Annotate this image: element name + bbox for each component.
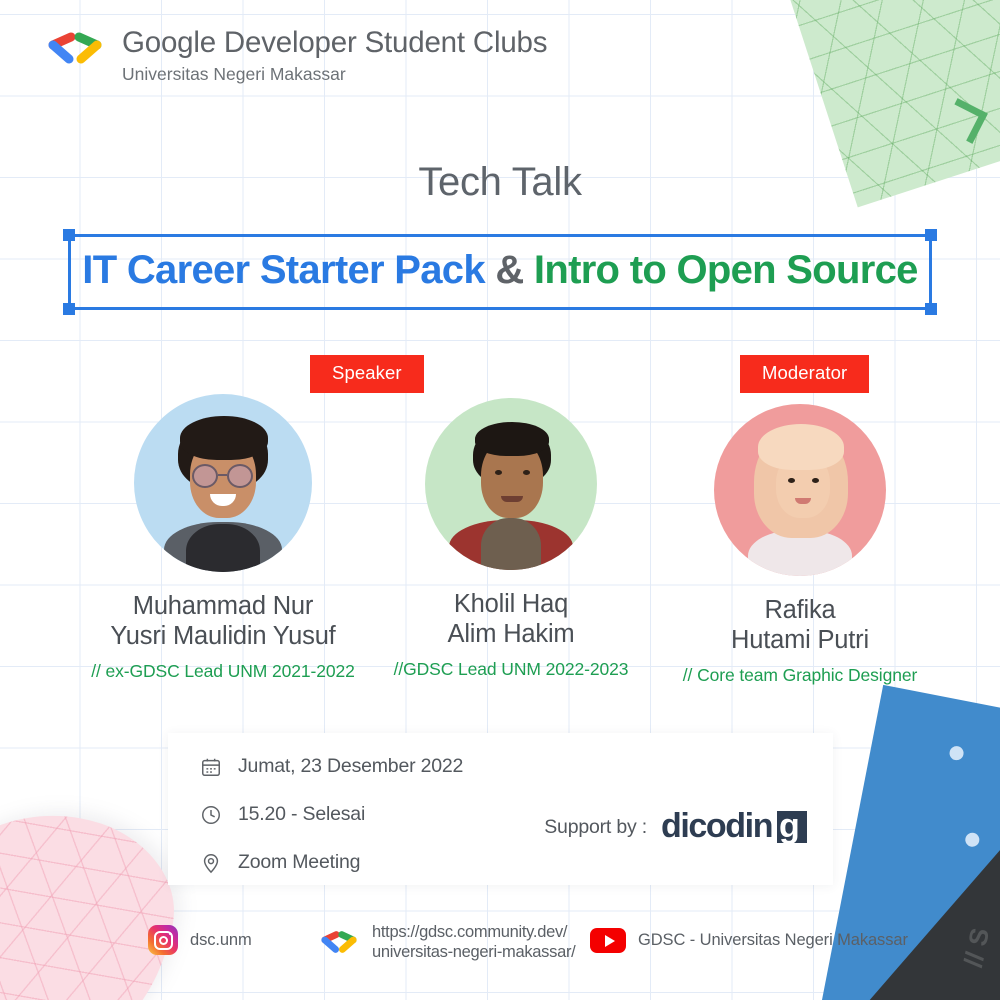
footer-instagram[interactable]: dsc.unm bbox=[148, 925, 252, 955]
svg-text:dicodin: dicodin bbox=[661, 807, 772, 845]
headline: IT Career Starter Pack & Intro to Open S… bbox=[0, 248, 1000, 293]
event-info-card: Jumat, 23 Desember 2022 15.20 - Selesai … bbox=[168, 733, 833, 885]
selection-handle-top-left[interactable] bbox=[63, 229, 75, 241]
footer-website[interactable]: https://gdsc.community.dev/ universitas-… bbox=[318, 922, 575, 963]
headline-part-2: Intro to Open Source bbox=[534, 248, 918, 292]
website-url-line-1: https://gdsc.community.dev/ bbox=[372, 922, 575, 942]
person-card-moderator: Rafika Hutami Putri // Core team Graphic… bbox=[620, 404, 980, 686]
youtube-icon bbox=[590, 928, 626, 953]
person-role: // Core team Graphic Designer bbox=[620, 665, 980, 686]
event-kicker: Tech Talk bbox=[0, 160, 1000, 205]
avatar bbox=[134, 394, 312, 572]
support-label: Support by : bbox=[544, 816, 647, 839]
avatar-illustration bbox=[134, 394, 312, 572]
calendar-icon bbox=[200, 756, 222, 778]
person-name: Rafika Hutami Putri bbox=[620, 596, 980, 656]
selection-handle-top-right[interactable] bbox=[925, 229, 937, 241]
footer-youtube[interactable]: GDSC - Universitas Negeri Makassar bbox=[590, 928, 908, 953]
selection-handle-bottom-left[interactable] bbox=[63, 303, 75, 315]
avatar bbox=[425, 398, 597, 570]
info-time-text: 15.20 - Selesai bbox=[238, 803, 365, 826]
location-pin-icon bbox=[200, 852, 222, 874]
selection-handle-bottom-right[interactable] bbox=[925, 303, 937, 315]
brand-subtitle: Universitas Negeri Makassar bbox=[122, 64, 547, 85]
website-url: https://gdsc.community.dev/ universitas-… bbox=[372, 922, 575, 963]
decor-triangle-pattern-pink bbox=[0, 794, 188, 1000]
person-name-line-1: Rafika bbox=[620, 596, 980, 626]
brand-header: Google Developer Student Clubs Universit… bbox=[44, 26, 547, 85]
website-url-line-2: universitas-negeri-makassar/ bbox=[372, 942, 575, 962]
info-location-text: Zoom Meeting bbox=[238, 851, 360, 874]
headline-separator: & bbox=[495, 248, 523, 292]
decor-ghost-text: // S bbox=[958, 925, 996, 970]
decor-pink-blob-bottom-left bbox=[0, 794, 188, 1000]
badge-speaker: Speaker bbox=[310, 355, 424, 393]
youtube-channel: GDSC - Universitas Negeri Makassar bbox=[638, 931, 908, 950]
avatar-illustration bbox=[714, 404, 886, 576]
dicoding-wordmark-icon: dicodin g bbox=[661, 807, 809, 847]
avatar bbox=[714, 404, 886, 576]
headline-part-1: IT Career Starter Pack bbox=[82, 248, 485, 292]
gdsc-code-logo-icon bbox=[44, 30, 106, 68]
gdsc-code-logo-icon bbox=[318, 928, 360, 956]
info-row-time: 15.20 - Selesai bbox=[200, 803, 365, 826]
decor-green-chevron-icon bbox=[942, 98, 988, 144]
brand-title: Google Developer Student Clubs bbox=[122, 26, 547, 59]
instagram-handle: dsc.unm bbox=[190, 931, 252, 950]
info-row-location: Zoom Meeting bbox=[200, 851, 360, 874]
svg-text:g: g bbox=[779, 807, 798, 845]
poster-canvas: // S Google Developer Student Clubs Univ… bbox=[0, 0, 1000, 1000]
instagram-icon bbox=[148, 925, 178, 955]
clock-icon bbox=[200, 804, 222, 826]
person-name-line-2: Hutami Putri bbox=[620, 626, 980, 656]
info-row-date: Jumat, 23 Desember 2022 bbox=[200, 755, 463, 778]
info-date-text: Jumat, 23 Desember 2022 bbox=[238, 755, 463, 778]
dicoding-logo: dicodin g bbox=[661, 807, 809, 847]
sponsor-block: Support by : dicodin g bbox=[544, 807, 809, 847]
badge-moderator: Moderator bbox=[740, 355, 869, 393]
avatar-illustration bbox=[425, 398, 597, 570]
